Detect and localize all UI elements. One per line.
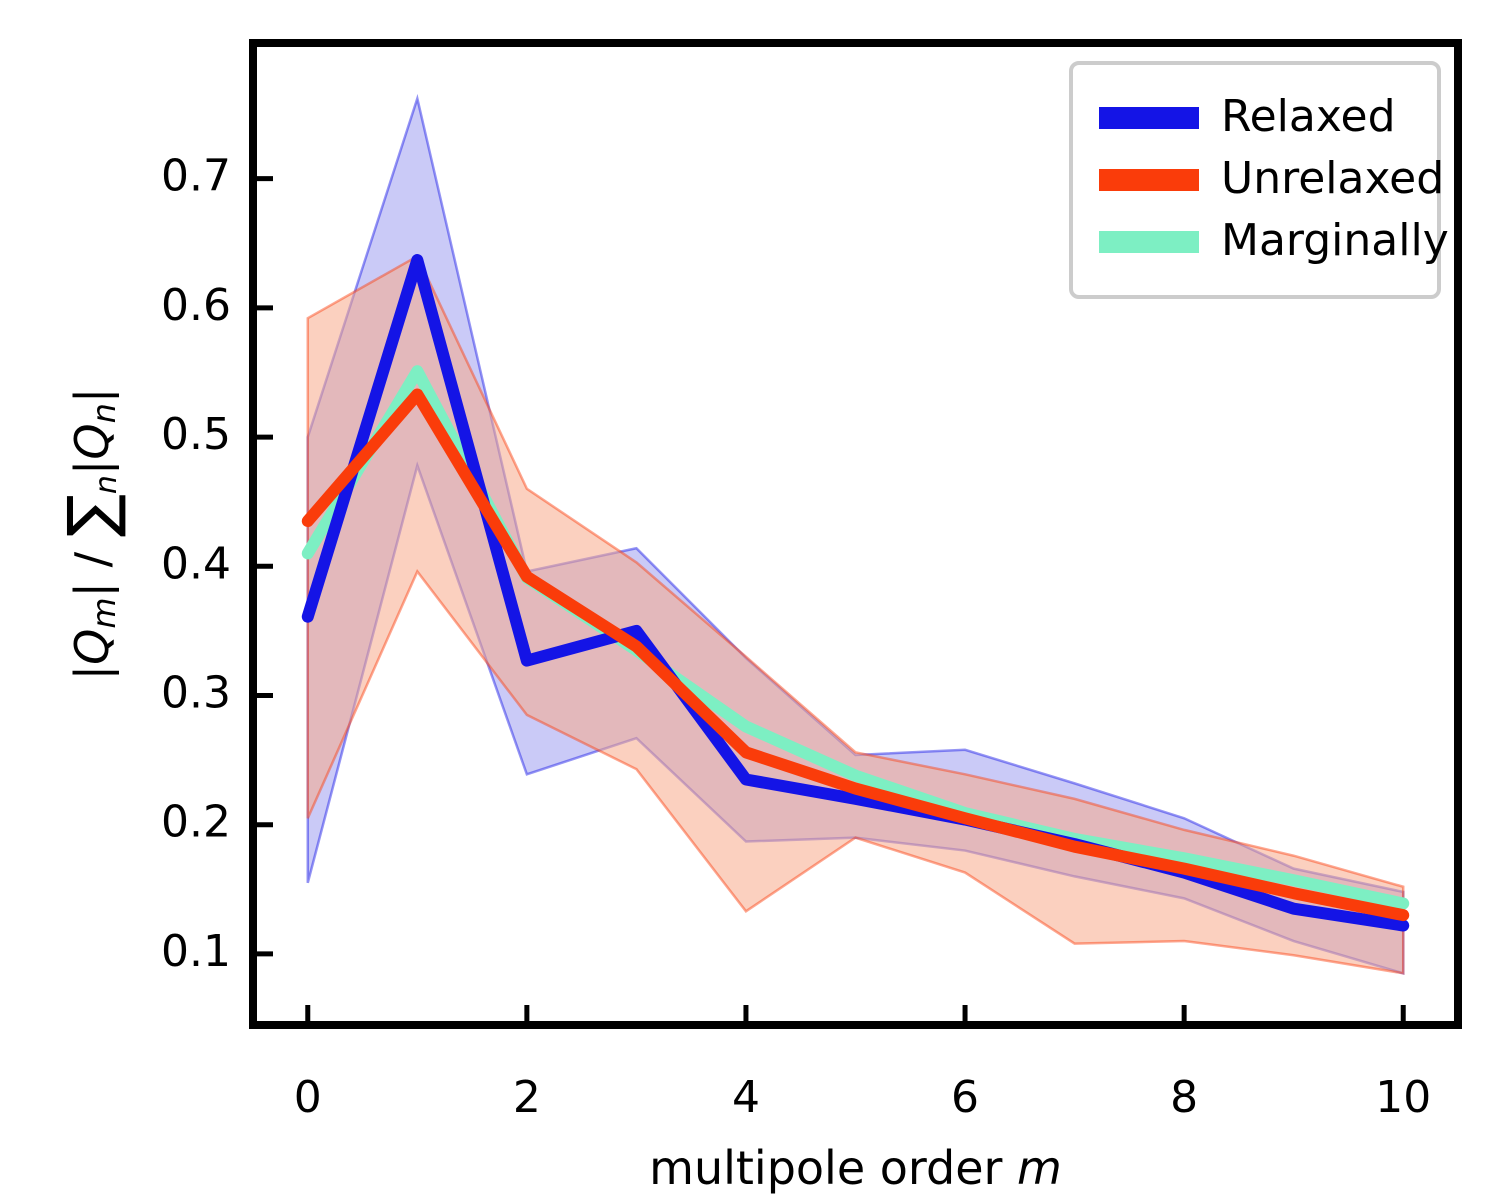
xtick-label-10: 10 [1375, 1072, 1431, 1123]
ytick-label-0.2: 0.2 [161, 797, 231, 848]
ytick-label-0.6: 0.6 [161, 280, 231, 331]
ytick-label-0.3: 0.3 [161, 668, 231, 719]
ytick-label-0.7: 0.7 [161, 151, 231, 202]
legend-label-marginally: Marginally [1221, 215, 1449, 266]
xtick-label-6: 6 [951, 1072, 979, 1123]
xtick-label-4: 4 [732, 1072, 760, 1123]
legend-label-unrelaxed: Unrelaxed [1221, 153, 1444, 204]
chart-figure: 02468100.10.20.30.40.50.60.7 RelaxedUnre… [0, 0, 1500, 1200]
x-axis-title: multipole order m [649, 1141, 1062, 1195]
xtick-label-8: 8 [1170, 1072, 1198, 1123]
chart-legend[interactable]: RelaxedUnrelaxedMarginally [1071, 63, 1449, 297]
chart-canvas: 02468100.10.20.30.40.50.60.7 RelaxedUnre… [0, 0, 1500, 1200]
legend-label-relaxed: Relaxed [1221, 91, 1396, 142]
ytick-label-0.4: 0.4 [161, 538, 231, 589]
xtick-label-2: 2 [513, 1072, 541, 1123]
y-axis-title: |Qm| / ∑n|Qn| [55, 388, 129, 681]
xtick-label-0: 0 [294, 1072, 322, 1123]
ytick-label-0.5: 0.5 [161, 409, 231, 460]
ytick-label-0.1: 0.1 [161, 926, 231, 977]
